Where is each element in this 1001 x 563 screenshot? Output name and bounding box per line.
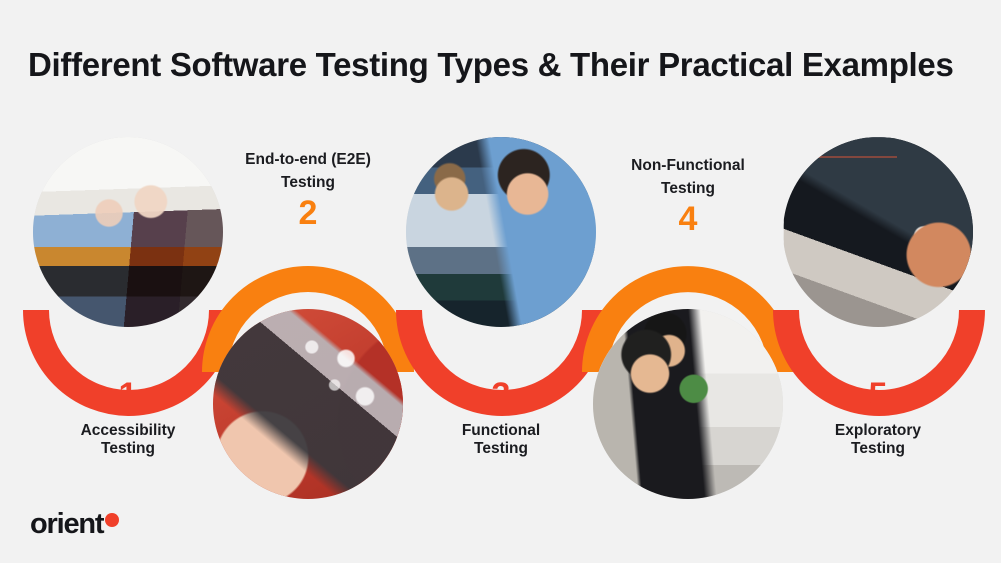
step-4-number: 4 — [583, 202, 793, 238]
step-2-label-line1: End-to-end (E2E) — [203, 151, 413, 170]
step-5-number: 5 — [773, 378, 983, 414]
infographic-canvas: Different Software Testing Types & Their… — [0, 0, 1001, 563]
step-4-label-line2: Testing — [583, 180, 793, 199]
step-2-number: 2 — [203, 196, 413, 232]
photo-hands-typing-laptop-circuit-overlay — [213, 309, 403, 499]
step-2: End-to-end (E2E) Testing 2 — [203, 151, 413, 232]
photo-two-colleagues-monitor-and-laptop — [593, 309, 783, 499]
step-3: 3 Functional Testing — [396, 378, 606, 459]
brand-logo-dot-icon — [105, 513, 119, 527]
photo-two-men-at-desk-with-tablet — [33, 137, 223, 327]
brand-logo-text: orient — [30, 510, 103, 539]
step-1-label-line2: Testing — [23, 440, 233, 459]
step-5-label-line2: Testing — [773, 440, 983, 459]
step-3-label-line1: Functional — [396, 422, 606, 441]
step-5: 5 Exploratory Testing — [773, 378, 983, 459]
step-5-label-line1: Exploratory — [773, 422, 983, 441]
photo-engineer-inspecting-circuit-boards — [406, 137, 596, 327]
step-4: Non-Functional Testing 4 — [583, 157, 793, 238]
step-1-number: 1 — [23, 378, 233, 414]
step-1-label-line1: Accessibility — [23, 422, 233, 441]
step-2-label-line2: Testing — [203, 174, 413, 193]
brand-logo: orient — [30, 510, 119, 539]
step-3-number: 3 — [396, 378, 606, 414]
step-4-label-line1: Non-Functional — [583, 157, 793, 176]
step-1: 1 Accessibility Testing — [23, 378, 233, 459]
photo-hand-pointing-pen-at-code-screen — [783, 137, 973, 327]
step-3-label-line2: Testing — [396, 440, 606, 459]
